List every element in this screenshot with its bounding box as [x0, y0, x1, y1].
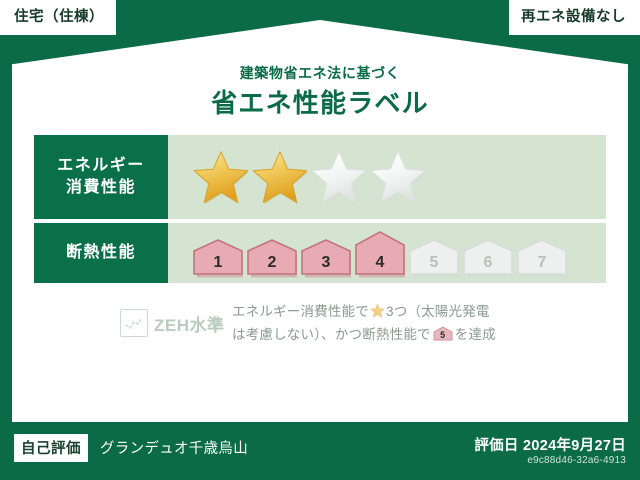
insulation-level-4: 4 — [354, 230, 406, 278]
energy-performance-value — [168, 135, 606, 219]
energy-label-line-1: エネルギー — [57, 155, 145, 177]
insulation-level-5: 5 — [408, 238, 460, 278]
energy-performance-label: 住宅（住棟） 再エネ設備なし 建築物省エネ法に基づく 省エネ性能ラベル エネルギ… — [0, 0, 640, 480]
insulation-label-line-1: 断熱性能 — [66, 242, 136, 264]
inline-house-number: 5 — [433, 328, 453, 343]
star-icon-filled — [192, 149, 250, 205]
renewable-equipment-tag: 再エネ設備なし — [509, 0, 640, 35]
star-rating — [192, 149, 427, 205]
building-type-tag: 住宅（住棟） — [0, 0, 116, 35]
insulation-level-7: 7 — [516, 238, 568, 278]
label-subtitle: 建築物省エネ法に基づく — [12, 63, 628, 83]
insulation-performance-value: 1234567 — [168, 223, 606, 283]
zeh-description: エネルギー消費性能で3つ（太陽光発電 は考慮しない）、かつ断熱性能で5を達成 — [232, 300, 590, 346]
insulation-level-2: 2 — [246, 238, 298, 278]
label-panel: 建築物省エネ法に基づく 省エネ性能ラベル エネルギー 消費性能 断熱性能 123… — [12, 20, 628, 422]
insulation-level-3: 3 — [300, 238, 352, 278]
zeh-desc-line1-b: 3つ（太陽光発電 — [386, 304, 490, 319]
inline-star-icon — [370, 302, 385, 317]
inline-house-icon: 5 — [433, 326, 453, 341]
zeh-mark: ZEH水準 — [120, 309, 232, 337]
building-name: グランデュオ千歳烏山 — [100, 437, 248, 458]
energy-performance-row: エネルギー 消費性能 — [34, 135, 606, 219]
zeh-desc-line2-b: を達成 — [455, 327, 496, 342]
star-icon-empty — [369, 149, 427, 205]
label-title: 省エネ性能ラベル — [12, 83, 628, 120]
star-icon-filled — [251, 149, 309, 205]
zeh-desc-line2-a: は考慮しない）、かつ断熱性能で — [232, 327, 431, 342]
insulation-level-1: 1 — [192, 238, 244, 278]
label-footer: 自己評価 グランデュオ千歳烏山 評価日 2024年9月27日 e9c88d46-… — [0, 424, 640, 480]
self-evaluation-badge: 自己評価 — [14, 434, 88, 462]
insulation-performance-label-box: 断熱性能 — [34, 223, 168, 283]
insulation-level-6: 6 — [462, 238, 514, 278]
energy-label-line-2: 消費性能 — [66, 177, 136, 199]
zeh-checkbox-icon — [120, 309, 148, 337]
insulation-level-scale: 1234567 — [192, 226, 568, 280]
insulation-performance-row: 断熱性能 1234567 — [34, 223, 606, 283]
energy-performance-label-box: エネルギー 消費性能 — [34, 135, 168, 219]
label-id-code: e9c88d46-32a6-4913 — [527, 455, 626, 466]
star-icon-empty — [310, 149, 368, 205]
zeh-desc-line1-a: エネルギー消費性能で — [232, 304, 369, 319]
zeh-standard-block: ZEH水準 エネルギー消費性能で3つ（太陽光発電 は考慮しない）、かつ断熱性能で… — [120, 300, 590, 346]
evaluation-date: 評価日 2024年9月27日 — [474, 434, 626, 455]
zeh-label: ZEH水準 — [154, 311, 225, 336]
